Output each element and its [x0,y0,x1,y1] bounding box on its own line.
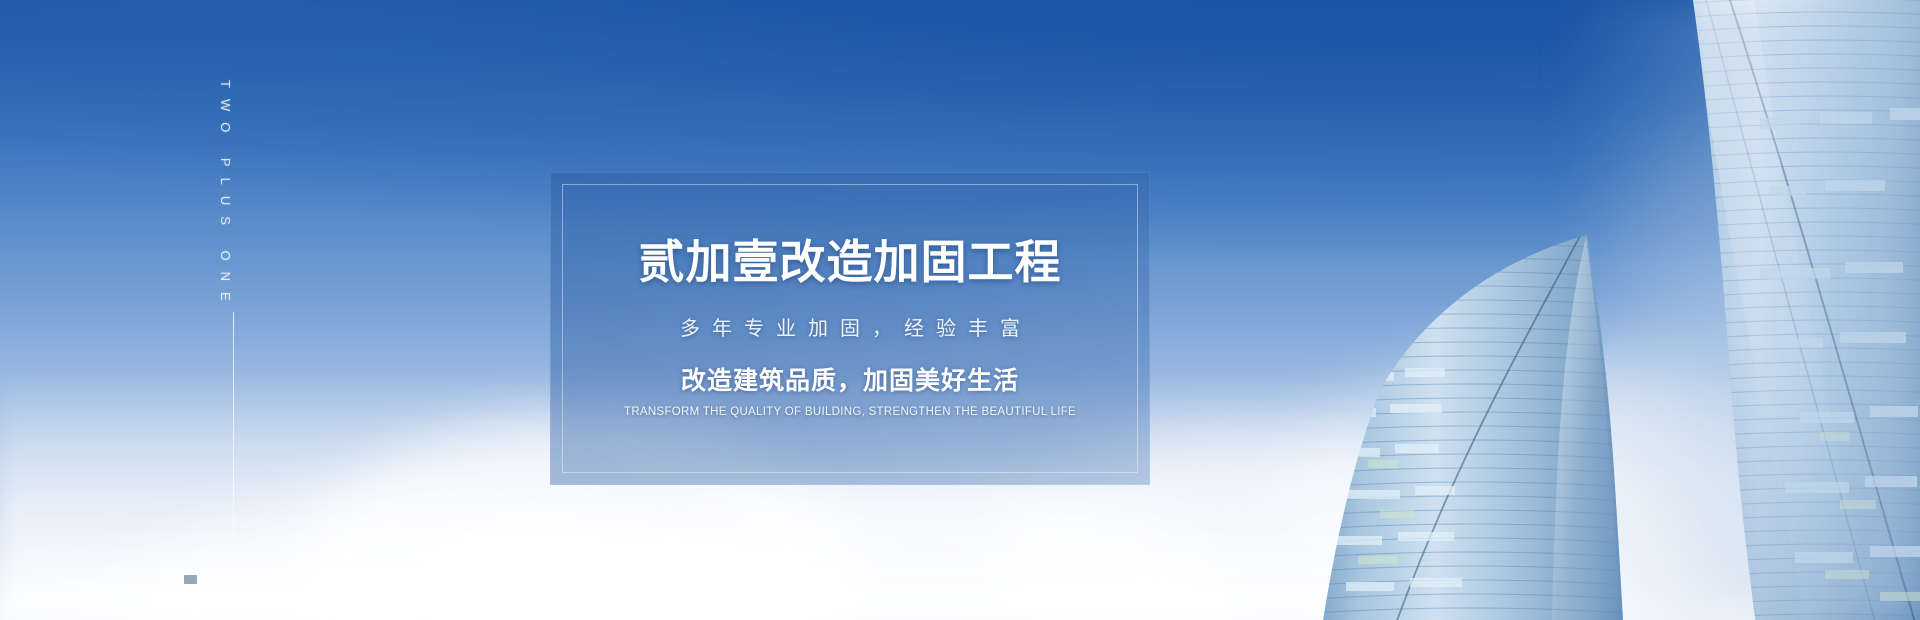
hero-text-panel: 贰加壹改造加固工程 多年专业加固，经验丰富 改造建筑品质，加固美好生活 TRAN… [550,172,1150,485]
vertical-divider-line [233,312,234,620]
banner-root: TWO PLUS ONE 贰加壹改造加固工程 多年专业加固，经验丰富 改造建筑品… [0,0,1920,620]
hero-headline: 贰加壹改造加固工程 [639,239,1062,285]
tower-left [1300,220,1640,620]
hero-english-tagline: TRANSFORM THE QUALITY OF BUILDING, STREN… [624,407,1076,419]
corner-mark-glyph [184,575,197,584]
tower-right [1680,0,1920,620]
vertical-brand-text: TWO PLUS ONE [218,80,233,312]
hero-panel-content: 贰加壹改造加固工程 多年专业加固，经验丰富 改造建筑品质，加固美好生活 TRAN… [550,172,1150,485]
hero-tagline: 改造建筑品质，加固美好生活 [681,369,1019,394]
hero-subline: 多年专业加固，经验丰富 [668,319,1032,339]
skyscrapers-illustration [1280,0,1920,620]
